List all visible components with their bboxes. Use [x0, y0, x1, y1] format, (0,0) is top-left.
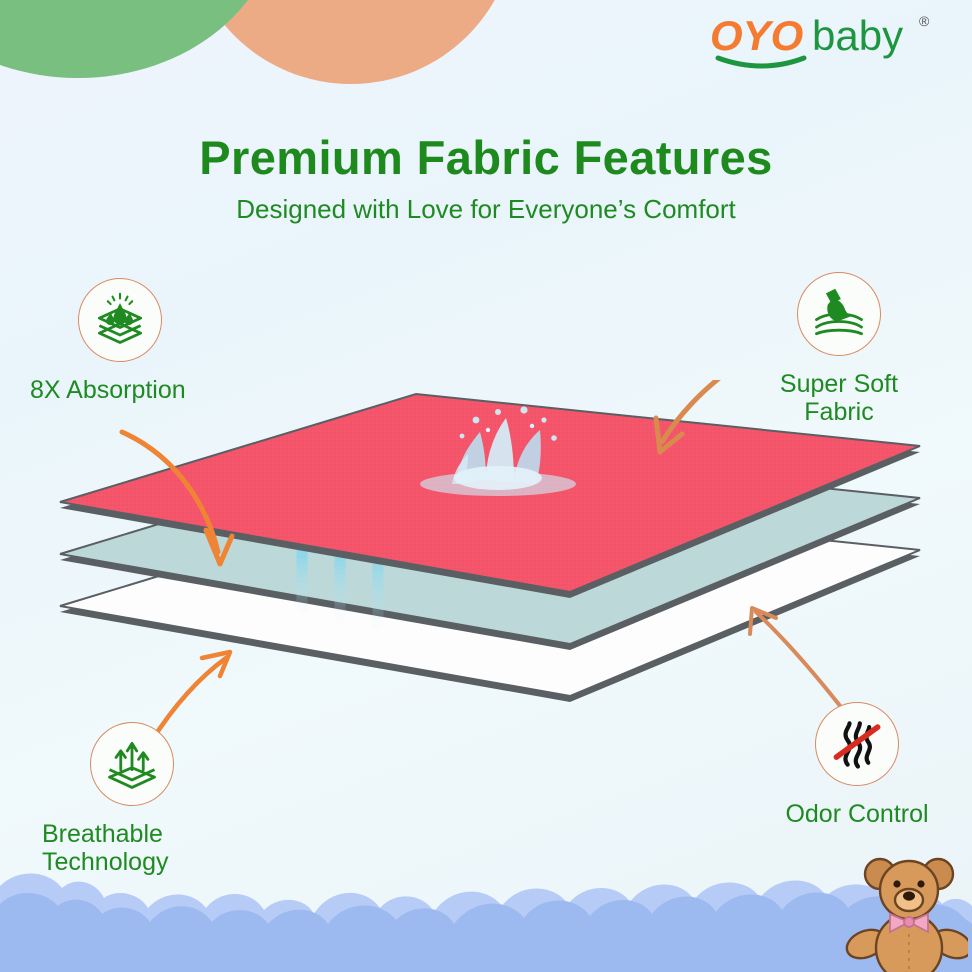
logo-smile-swoosh [718, 58, 804, 66]
breathable-layers-arrows-icon [102, 734, 162, 794]
pointer-arrow-odor [750, 608, 848, 716]
absorbent-layers-icon [90, 290, 150, 350]
cloud-band-front [0, 893, 972, 972]
feature-absorption-label: 8X Absorption [30, 376, 290, 404]
feature-supersoft-label: Super Soft Fabric [714, 370, 964, 427]
teddy-nose [903, 891, 915, 900]
poster-canvas: OYO baby ® Premium Fabric Features Desig… [0, 0, 972, 972]
logo-oyo-text: OYO [710, 12, 803, 59]
teddy-bear-mascot [842, 848, 968, 972]
feature-odor-badge [815, 702, 899, 786]
feature-absorption: 8X Absorption [30, 278, 290, 404]
page-title: Premium Fabric Features [0, 130, 972, 185]
feature-supersoft: Super Soft Fabric [714, 272, 964, 427]
cloud-band-svg [0, 842, 972, 972]
decorative-cloud-band [0, 842, 972, 972]
feature-supersoft-badge [797, 272, 881, 356]
logo-registered-mark: ® [919, 13, 930, 29]
teddy-eye-left [893, 880, 900, 887]
feature-absorption-badge [78, 278, 162, 362]
logo-baby-text: baby [812, 12, 903, 59]
hand-touching-fabric-icon [809, 284, 869, 344]
oyobaby-logo-svg: OYO baby ® [704, 4, 954, 76]
layered-mattress-illustration [30, 380, 940, 740]
oyobaby-logo: OYO baby ® [704, 4, 954, 76]
feature-odor-label: Odor Control [742, 800, 972, 828]
teddy-eye-right [917, 880, 924, 887]
layers-svg [30, 380, 940, 740]
no-odor-icon [827, 714, 887, 774]
decorative-green-circle [0, 0, 278, 78]
page-subtitle: Designed with Love for Everyone’s Comfor… [0, 194, 972, 225]
teddy-bear-svg [842, 848, 968, 972]
feature-breathable-badge [90, 722, 174, 806]
feature-odor: Odor Control [742, 702, 972, 828]
